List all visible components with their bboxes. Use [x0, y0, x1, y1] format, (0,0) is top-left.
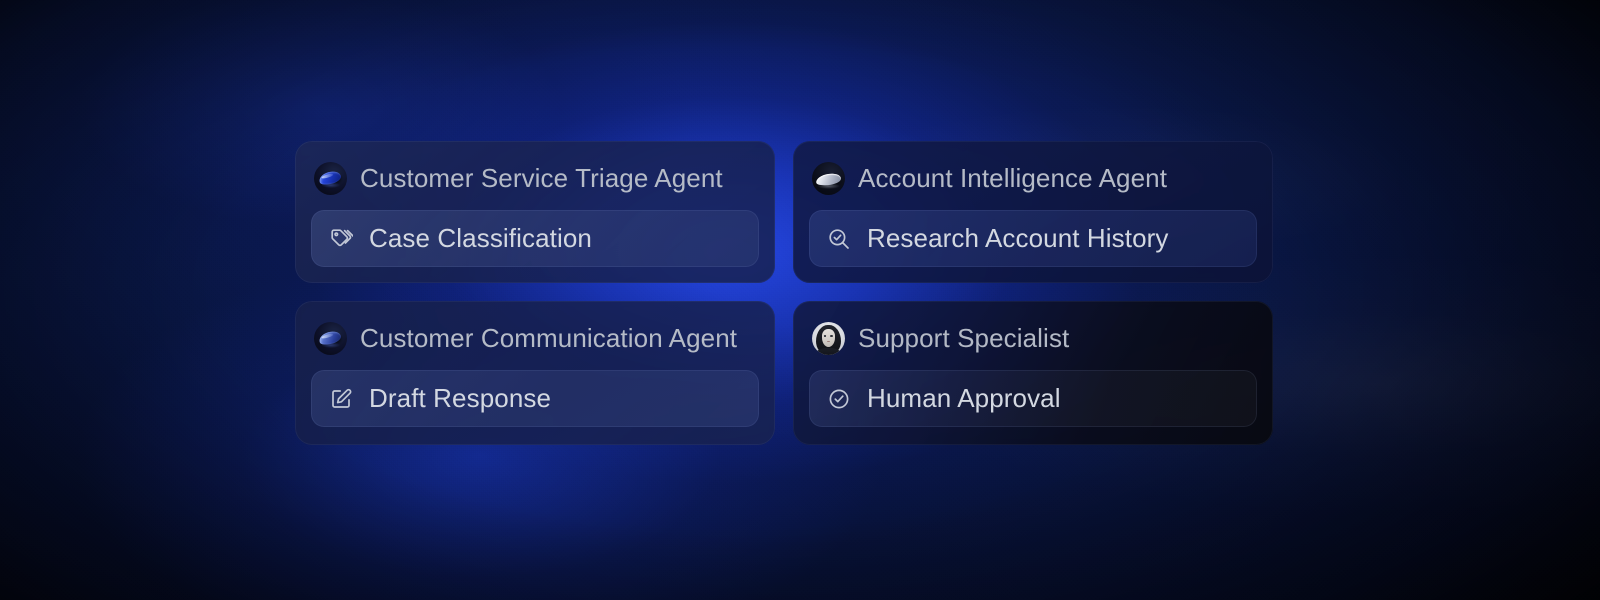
circle-check-icon [826, 386, 852, 412]
agent-card-customer-service-triage[interactable]: Customer Service Triage Agent Case Class… [295, 141, 775, 283]
blue-blob-avatar [314, 322, 347, 355]
action-label: Draft Response [369, 383, 551, 414]
action-pill-human-approval[interactable]: Human Approval [809, 370, 1257, 427]
tags-icon [328, 226, 354, 252]
agent-card-grid: Customer Service Triage Agent Case Class… [295, 141, 1273, 445]
card-header: Support Specialist [809, 318, 1257, 358]
agent-name: Customer Service Triage Agent [360, 163, 723, 194]
action-pill-research-account-history[interactable]: Research Account History [809, 210, 1257, 267]
action-pill-case-classification[interactable]: Case Classification [311, 210, 759, 267]
action-label: Research Account History [867, 223, 1169, 254]
action-label: Case Classification [369, 223, 592, 254]
pencil-square-icon [328, 386, 354, 412]
blue-blob-avatar [314, 162, 347, 195]
canvas: Customer Service Triage Agent Case Class… [0, 0, 1600, 600]
agent-name: Support Specialist [858, 323, 1069, 354]
agent-name: Account Intelligence Agent [858, 163, 1167, 194]
card-header: Customer Service Triage Agent [311, 158, 759, 198]
person-photo-avatar [812, 322, 845, 355]
silver-blob-avatar [812, 162, 845, 195]
action-label: Human Approval [867, 383, 1061, 414]
agent-card-customer-communication[interactable]: Customer Communication Agent Draft Respo… [295, 301, 775, 445]
agent-name: Customer Communication Agent [360, 323, 737, 354]
action-pill-draft-response[interactable]: Draft Response [311, 370, 759, 427]
card-header: Customer Communication Agent [311, 318, 759, 358]
agent-card-account-intelligence[interactable]: Account Intelligence Agent Research Acco… [793, 141, 1273, 283]
card-header: Account Intelligence Agent [809, 158, 1257, 198]
agent-card-support-specialist[interactable]: Support Specialist Human Approval [793, 301, 1273, 445]
search-check-icon [826, 226, 852, 252]
